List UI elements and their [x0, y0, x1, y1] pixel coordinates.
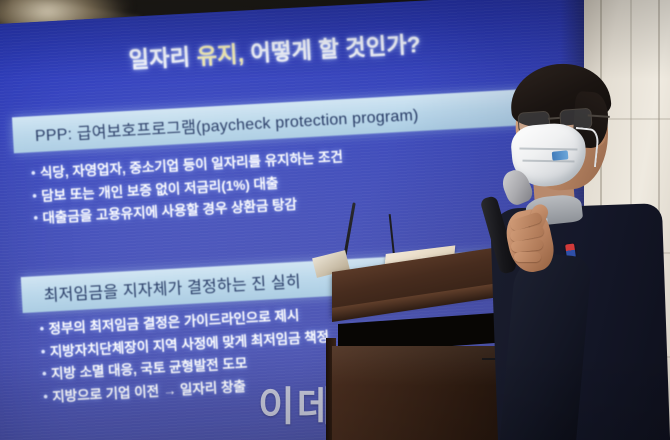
- list-item-label: 지방으로 기업 이전 → 일자리 창출: [52, 378, 246, 404]
- photo-scene: 일자리 유지, 어떻게 할 것인가? PPP: 급여보호프로그램(paychec…: [0, 0, 670, 440]
- person-speaking-icon: [478, 58, 670, 440]
- list-item-label: 지방 소멸 대응, 국토 균형발전 도모: [51, 356, 248, 382]
- mask-fold: [519, 148, 577, 151]
- eyeglass-bridge: [548, 117, 560, 119]
- mask-ear-strap: [572, 127, 600, 167]
- slide-title-highlight: 유지,: [196, 42, 245, 70]
- finger: [514, 252, 541, 262]
- arm: [500, 251, 592, 440]
- mask-brand-logo: [552, 150, 569, 160]
- slide-title-part1: 일자리: [128, 44, 197, 73]
- mask-fold: [522, 160, 574, 162]
